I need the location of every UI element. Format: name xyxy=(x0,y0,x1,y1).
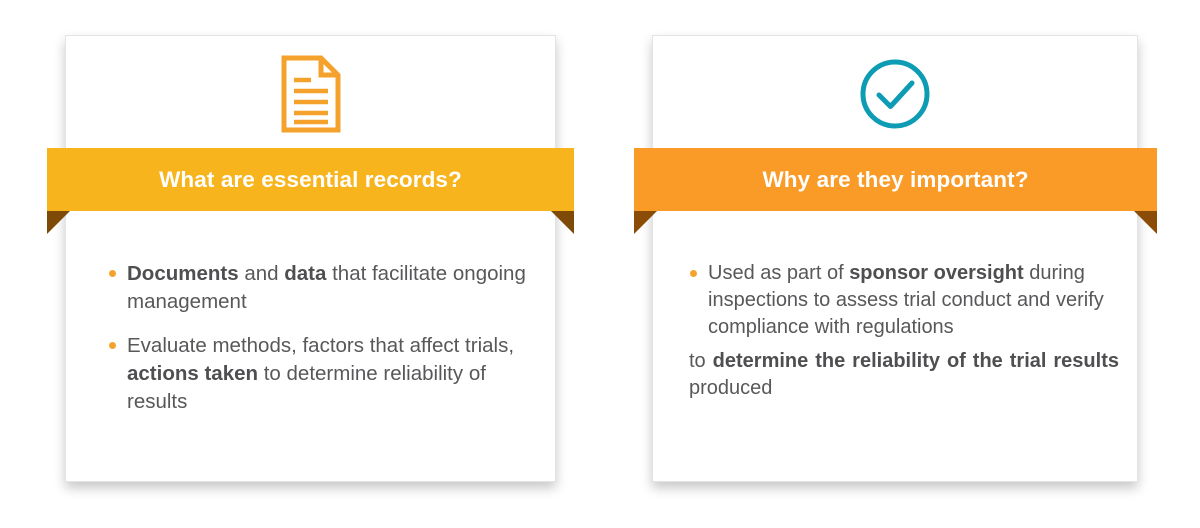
bullet-list: Used as part of sponsor oversight during… xyxy=(671,260,1121,342)
bullet-strong: actions taken xyxy=(127,362,258,385)
card-body-essential-records: Documents and data that facilitate ongoi… xyxy=(66,260,555,432)
ribbon-title: What are essential records? xyxy=(159,167,462,193)
bullet-strong: sponsor oversight xyxy=(849,262,1023,284)
ribbon-title: Why are they important? xyxy=(762,167,1028,193)
ribbon-fold-right-icon xyxy=(551,211,574,234)
document-icon xyxy=(281,55,341,138)
closing-paragraph: to determine the reliability of the tria… xyxy=(671,348,1121,402)
list-item: Evaluate methods, factors that affect tr… xyxy=(90,332,531,415)
ribbon-fold-left-icon xyxy=(47,211,70,234)
paragraph-text: produced xyxy=(689,377,772,399)
ribbon-essential-records: What are essential records? xyxy=(47,148,574,211)
card-body-why-important: Used as part of sponsor oversight during… xyxy=(653,260,1137,402)
ribbon-fold-right-icon xyxy=(1134,211,1157,234)
bullet-strong: Documents xyxy=(127,262,239,285)
bullet-text: Evaluate methods, factors that affect tr… xyxy=(127,334,514,357)
bullet-strong: data xyxy=(284,262,326,285)
card-essential-records: Documents and data that facilitate ongoi… xyxy=(65,35,556,482)
ribbon-why-important: Why are they important? xyxy=(634,148,1157,211)
card-icon-area xyxy=(653,36,1137,156)
card-icon-area xyxy=(66,36,555,156)
list-item: Used as part of sponsor oversight during… xyxy=(671,260,1121,342)
list-item: Documents and data that facilitate ongoi… xyxy=(90,260,531,315)
paragraph-strong: determine the reliability of the trial r… xyxy=(713,350,1119,372)
check-circle-icon xyxy=(858,57,932,136)
bullet-list: Documents and data that facilitate ongoi… xyxy=(90,260,531,415)
bullet-text: Used as part of xyxy=(708,262,849,284)
slide-canvas: Documents and data that facilitate ongoi… xyxy=(0,0,1200,528)
bullet-text: and xyxy=(239,262,285,285)
ribbon-fold-left-icon xyxy=(634,211,657,234)
paragraph-text: to xyxy=(689,350,713,372)
card-why-important: Used as part of sponsor oversight during… xyxy=(652,35,1138,482)
